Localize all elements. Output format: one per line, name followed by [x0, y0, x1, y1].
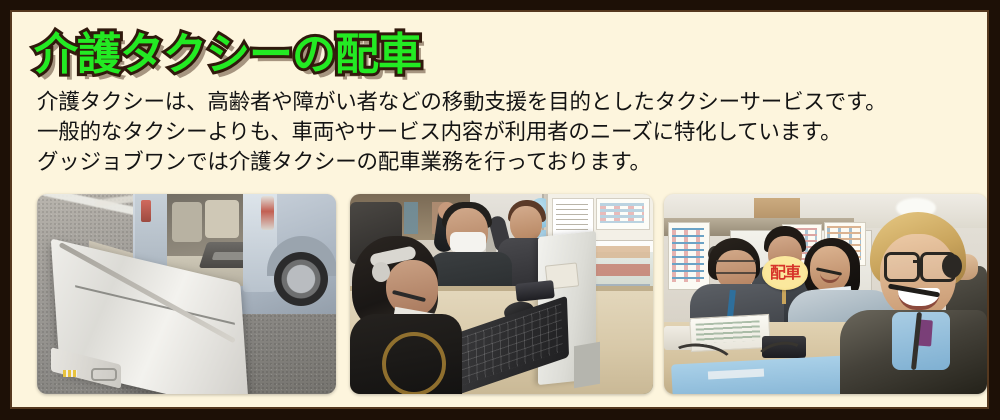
wheelchair-wheel: [382, 332, 446, 394]
banner-inner-frame: 介護タクシーの配車 介護タクシーは、高齢者や障がい者などの移動支援を目的としたタ…: [10, 10, 989, 409]
ramp-handle: [91, 368, 117, 381]
staff-4-glasses-bridge: [913, 260, 922, 263]
dispatch-sign: 配車: [762, 256, 808, 290]
staff-2-face-mask: [450, 232, 486, 252]
dispatch-sign-label: 配車: [770, 265, 800, 281]
staff-1-headset-earcup: [372, 262, 390, 282]
page-title-container: 介護タクシーの配車: [34, 26, 594, 86]
description-line-3: グッジョブワンでは介護タクシーの配車業務を行っております。: [37, 148, 977, 178]
van-seat-right: [205, 200, 239, 238]
photo-2-canvas: [350, 194, 653, 394]
wall-calendar-grid: [672, 228, 704, 282]
description-text: 介護タクシーは、高齢者や障がい者などの移動支援を目的としたタクシーサービスです。…: [37, 88, 977, 178]
taillight-right: [261, 196, 274, 230]
monitor-stand: [574, 342, 600, 389]
photo-gallery: 配車: [37, 194, 987, 396]
staff-3-face: [510, 206, 542, 242]
photo-wheelchair-van: [37, 194, 336, 394]
photo-1-canvas: [37, 194, 336, 394]
van-rear-wheel: [274, 252, 328, 306]
notice-paper-right-lines: [600, 203, 644, 223]
notice-paper-left-lines: [556, 204, 588, 230]
staff-1-glasses: [716, 260, 756, 274]
banner-frame: 介護タクシーの配車 介護タクシーは、高齢者や障がい者などの移動支援を目的としたタ…: [0, 0, 1000, 420]
staff-1-face: [386, 260, 438, 316]
photo-dispatch-team: 配車: [664, 194, 987, 394]
van-seat-left: [172, 202, 202, 242]
taillight-left: [141, 200, 151, 222]
description-line-1: 介護タクシーは、高齢者や障がい者などの移動支援を目的としたタクシーサービスです。: [37, 88, 977, 118]
desk-document-lines: [696, 320, 761, 343]
description-line-2: 一般的なタクシーよりも、車両やサービス内容が利用者のニーズに特化しています。: [37, 118, 977, 148]
photo-call-center-staff: [350, 194, 653, 394]
page-title: 介護タクシーの配車: [34, 26, 594, 84]
staff-4-glasses-left-lens: [884, 252, 920, 282]
ramp-warning-stripe: [63, 370, 77, 377]
staff-4-headset-earcup: [942, 254, 962, 278]
photo-3-canvas: 配車: [664, 194, 987, 394]
